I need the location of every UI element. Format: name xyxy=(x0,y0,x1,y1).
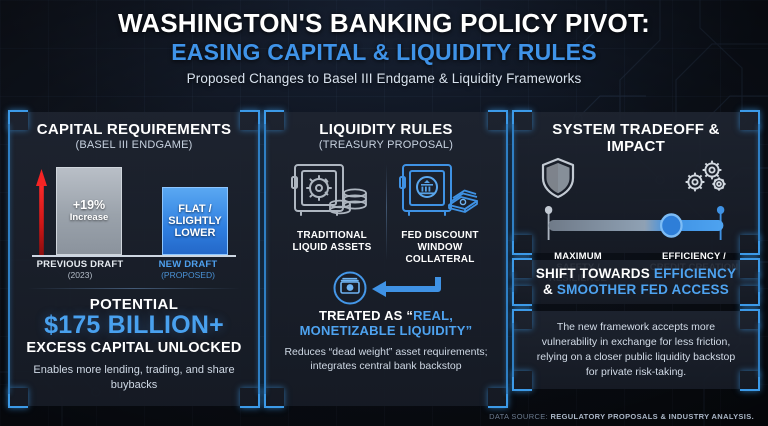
panel-tradeoff-title: SYSTEM TRADEOFF & IMPACT xyxy=(524,121,748,156)
callout-excess-capital: EXCESS CAPITAL UNLOCKED xyxy=(20,340,248,356)
capital-callout: POTENTIAL $175 BILLION+ EXCESS CAPITAL U… xyxy=(20,296,248,392)
panel-edge xyxy=(264,124,266,394)
panel-edge xyxy=(512,272,514,292)
callout-amount: $175 BILLION+ xyxy=(20,312,248,340)
footer-source: DATA SOURCE: REGULATORY PROPOSALS & INDU… xyxy=(489,412,754,421)
callout-body: Enables more lending, trading, and share… xyxy=(20,363,248,392)
capital-bar-chart: +19% Increase FLAT / SLIGHTLY LOWER xyxy=(26,161,242,257)
assets-divider xyxy=(386,164,387,259)
tradeoff-icon-row xyxy=(524,156,748,200)
asset-fed-discount: FED DISCOUNT WINDOW COLLATERAL xyxy=(386,160,494,265)
x-label-previous: PREVIOUS DRAFT (2023) xyxy=(26,260,134,280)
panel-system-tradeoff: SYSTEM TRADEOFF & IMPACT xyxy=(514,112,758,406)
corner-bracket-icon xyxy=(512,258,532,278)
x-label-new: NEW DRAFT (PROPOSED) xyxy=(134,260,242,280)
page-description: Proposed Changes to Basel III Endgame & … xyxy=(0,71,768,86)
shift-plain-2: & xyxy=(543,282,557,297)
corner-bracket-icon xyxy=(512,286,532,306)
bar-new-draft: FLAT / SLIGHTLY LOWER xyxy=(162,187,228,255)
red-up-arrow-icon xyxy=(36,169,47,255)
shift-line-1: SHIFT TOWARDS EFFICIENCY xyxy=(536,266,736,282)
footer-source-value: REGULATORY PROPOSALS & INDUSTRY ANALYSIS… xyxy=(550,412,754,421)
treated-highlight-1: REAL, xyxy=(413,308,453,323)
panel-capital-title: CAPITAL REQUIREMENTS xyxy=(20,121,248,138)
corner-bracket-icon xyxy=(740,286,760,306)
safe-with-coins-icon xyxy=(289,160,375,222)
asset-traditional-caption: TRADITIONAL LIQUID ASSETS xyxy=(278,230,386,254)
bar-new-value2: SLIGHTLY LOWER xyxy=(168,215,221,239)
treated-as-block: TREATED AS “REAL, MONETIZABLE LIQUIDITY”… xyxy=(276,308,496,374)
shield-icon xyxy=(538,156,578,200)
tradeoff-box: SYSTEM TRADEOFF & IMPACT xyxy=(514,112,758,253)
chart-axis xyxy=(32,255,236,257)
shift-box: SHIFT TOWARDS EFFICIENCY & SMOOTHER FED … xyxy=(514,260,758,304)
panel-edge xyxy=(512,124,514,241)
panel-liquidity-rules: LIQUIDITY RULES (TREASURY PROPOSAL) xyxy=(266,112,506,406)
chart-x-labels: PREVIOUS DRAFT (2023) NEW DRAFT (PROPOSE… xyxy=(20,260,248,280)
shift-statement: SHIFT TOWARDS EFFICIENCY & SMOOTHER FED … xyxy=(536,266,736,298)
x-label-new-sub: (PROPOSED) xyxy=(134,271,242,281)
banknote-circle-icon xyxy=(316,270,456,306)
page-header: WASHINGTON'S BANKING POLICY PIVOT: EASIN… xyxy=(0,9,768,86)
panel-divider xyxy=(28,288,240,289)
treated-highlight-2: MONETIZABLE LIQUIDITY” xyxy=(276,323,496,338)
panels-row: CAPITAL REQUIREMENTS (BASEL III ENDGAME) xyxy=(10,112,758,406)
bar-new-value: FLAT / xyxy=(178,203,211,215)
panel-liquidity-subtitle: (TREASURY PROPOSAL) xyxy=(276,139,496,151)
panel-edge xyxy=(758,272,760,292)
note-box: The new framework accepts more vulnerabi… xyxy=(514,311,758,389)
shift-line-2: & SMOOTHER FED ACCESS xyxy=(536,282,736,298)
bar-previous-draft: +19% Increase xyxy=(56,167,122,255)
treated-line-1: TREATED AS “REAL, xyxy=(276,308,496,323)
safe-with-cash-icon xyxy=(397,160,483,222)
x-label-previous-sub: (2023) xyxy=(26,271,134,281)
corner-bracket-icon xyxy=(264,388,284,408)
blue-left-elbow-arrow-icon xyxy=(372,277,438,297)
panel-edge xyxy=(758,124,760,241)
treated-body: Reduces “dead weight” asset requirements… xyxy=(276,345,496,373)
panel-edge xyxy=(258,124,260,394)
page-subtitle: EASING CAPITAL & LIQUIDITY RULES xyxy=(0,38,768,66)
shift-highlight-2: SMOOTHER FED ACCESS xyxy=(557,282,729,297)
shift-highlight-1: EFFICIENCY xyxy=(654,266,736,281)
asset-fed-caption: FED DISCOUNT WINDOW COLLATERAL xyxy=(386,230,494,265)
framework-note: The new framework accepts more vulnerabi… xyxy=(524,320,748,380)
tradeoff-slider[interactable] xyxy=(530,206,742,250)
panel-edge xyxy=(8,124,10,394)
bar-previous-value2: Increase xyxy=(70,213,109,224)
shift-plain-1: SHIFT TOWARDS xyxy=(536,266,654,281)
footer-source-label: DATA SOURCE: xyxy=(489,412,548,421)
page-title: WASHINGTON'S BANKING POLICY PIVOT: xyxy=(0,9,768,38)
infographic-root: WASHINGTON'S BANKING POLICY PIVOT: EASIN… xyxy=(0,0,768,426)
panel-capital-requirements: CAPITAL REQUIREMENTS (BASEL III ENDGAME) xyxy=(10,112,258,406)
treated-prefix: TREATED AS “ xyxy=(319,308,413,323)
panel-edge xyxy=(506,124,508,394)
money-flow-row xyxy=(276,270,496,306)
corner-bracket-icon xyxy=(488,388,508,408)
panel-edge xyxy=(758,323,760,377)
gears-icon xyxy=(678,158,730,200)
slider-graphic[interactable] xyxy=(530,206,742,250)
panel-liquidity-title: LIQUIDITY RULES xyxy=(276,121,496,138)
panel-edge xyxy=(512,323,514,377)
bar-previous-value: +19% xyxy=(73,199,105,213)
asset-traditional: TRADITIONAL LIQUID ASSETS xyxy=(278,160,386,265)
panel-capital-subtitle: (BASEL III ENDGAME) xyxy=(20,139,248,151)
liquidity-assets: TRADITIONAL LIQUID ASSETS xyxy=(276,160,496,265)
corner-bracket-icon xyxy=(740,258,760,278)
